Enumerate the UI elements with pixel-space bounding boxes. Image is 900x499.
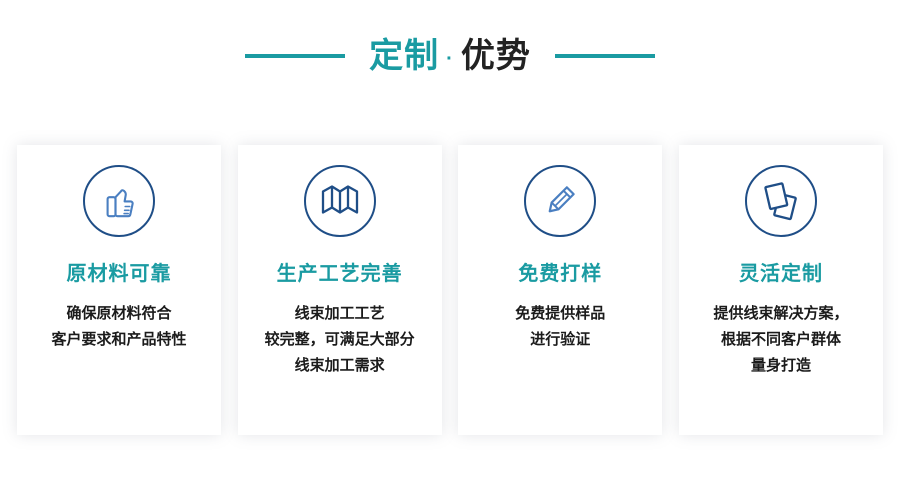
advantage-cards-row: 原材料可靠 确保原材料符合 客户要求和产品特性 生产工艺完善 线束加工工艺 较完… [17, 145, 883, 435]
advantage-card-body: 免费提供样品 进行验证 [507, 301, 613, 353]
overlapping-cards-icon [745, 165, 817, 237]
advantage-card-title: 灵活定制 [739, 263, 823, 285]
title-separator-dot: · [446, 49, 454, 69]
page-title: 定制 · 优势 [369, 39, 531, 73]
advantage-card-title: 免费打样 [518, 263, 602, 285]
advantage-card[interactable]: 原材料可靠 确保原材料符合 客户要求和产品特性 [17, 145, 221, 435]
advantage-card-body: 提供线束解决方案， 根据不同客户群体 量身打造 [705, 301, 856, 378]
title-main-text: 优势 [461, 39, 531, 73]
folded-map-icon [304, 165, 376, 237]
advantage-card[interactable]: 生产工艺完善 线束加工工艺 较完整，可满足大部分 线束加工需求 [238, 145, 442, 435]
pencil-icon [524, 165, 596, 237]
advantage-card-body: 线束加工工艺 较完整，可满足大部分 线束加工需求 [257, 301, 423, 378]
advantage-card[interactable]: 免费打样 免费提供样品 进行验证 [458, 145, 662, 435]
advantage-card[interactable]: 灵活定制 提供线束解决方案， 根据不同客户群体 量身打造 [679, 145, 883, 435]
title-accent-text: 定制 [369, 39, 439, 73]
advantage-card-title: 原材料可靠 [67, 263, 172, 285]
thumbs-up-icon [83, 165, 155, 237]
section-title: 定制 · 优势 [0, 30, 900, 82]
title-rule-left [245, 54, 345, 58]
title-rule-right [555, 54, 655, 58]
advantage-card-body: 确保原材料符合 客户要求和产品特性 [43, 301, 194, 353]
advantage-card-title: 生产工艺完善 [277, 263, 403, 285]
